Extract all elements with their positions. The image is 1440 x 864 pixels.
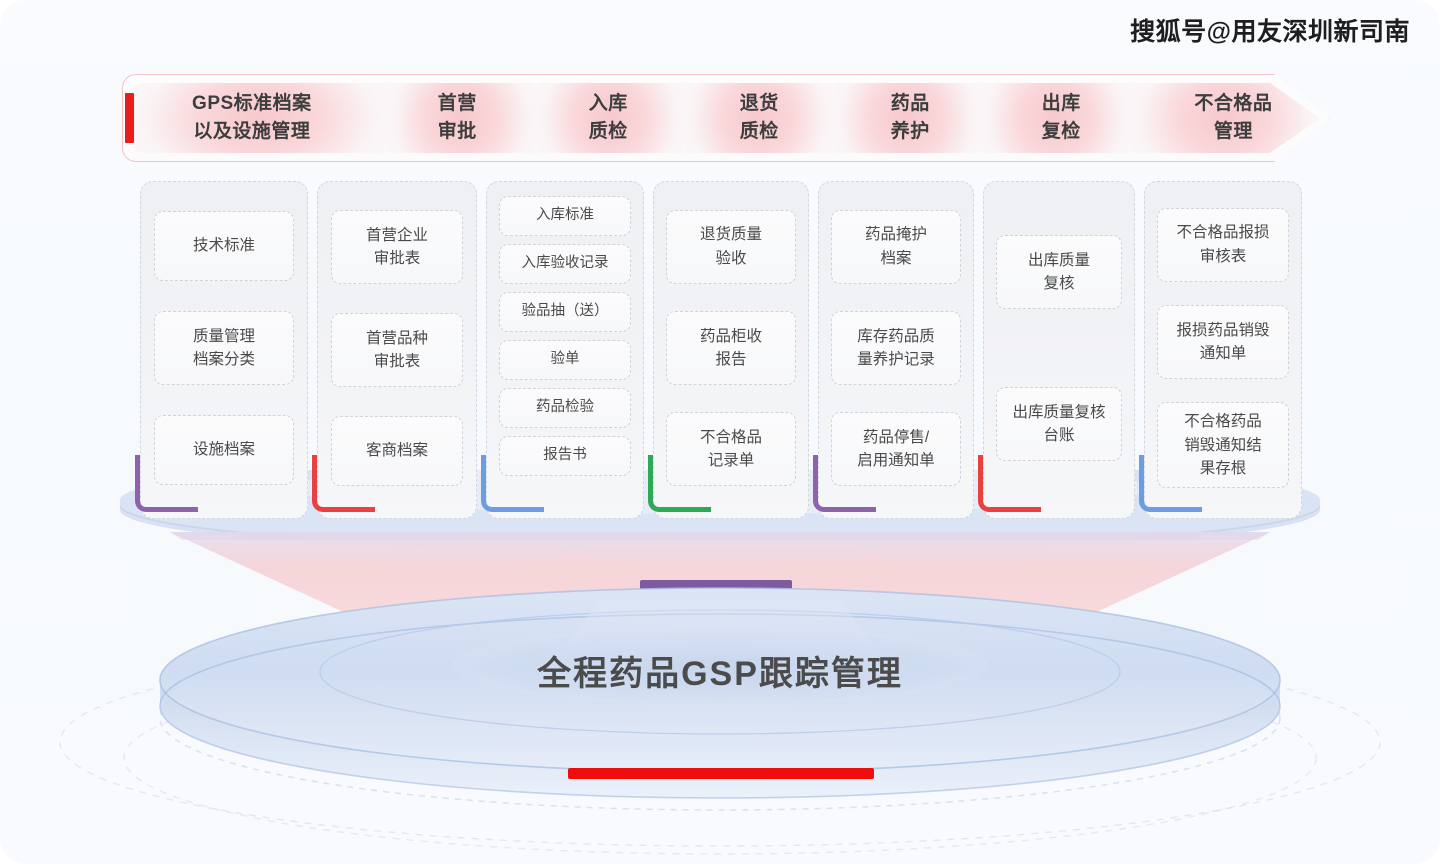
banner-step-4[interactable]: 退货质检 [684, 74, 835, 162]
banner-step-line1: 退货 [740, 90, 779, 118]
banner-step-labels: GPS标准档案以及设施管理首营审批入库质检退货质检药品养护出库复检不合格品管理 [122, 74, 1330, 162]
banner-step-6[interactable]: 出库复检 [986, 74, 1137, 162]
doc-card[interactable]: 入库验收记录 [499, 244, 630, 284]
banner-step-1[interactable]: GPS标准档案以及设施管理 [122, 74, 382, 162]
banner-step-7[interactable]: 不合格品管理 [1137, 74, 1330, 162]
banner-step-3[interactable]: 入库质检 [533, 74, 684, 162]
doc-card[interactable]: 不合格品记录单 [666, 412, 795, 486]
banner-step-line1: GPS标准档案 [192, 90, 312, 118]
doc-card[interactable]: 入库标准 [499, 196, 630, 236]
doc-card[interactable]: 药品检验 [499, 388, 630, 428]
doc-card[interactable]: 技术标准 [154, 211, 293, 281]
category-column-5: 药品掩护档案库存药品质量养护记录药品停售/启用通知单 [818, 181, 974, 519]
doc-card[interactable]: 出库质量复核台账 [996, 387, 1122, 461]
banner-step-line1: 不合格品 [1194, 90, 1272, 118]
base-accent-bar [568, 768, 874, 779]
banner-step-line1: 药品 [891, 90, 930, 118]
doc-card[interactable]: 质量管理档案分类 [154, 311, 293, 385]
watermark-text: 搜狐号@用友深圳新司南 [1130, 12, 1410, 48]
banner-step-line1: 首营 [438, 90, 477, 118]
category-columns: 技术标准质量管理档案分类设施档案首营企业审批表首营品种审批表客商档案入库标准入库… [140, 181, 1308, 519]
banner-step-line2: 以及设施管理 [193, 118, 310, 146]
doc-card[interactable]: 客商档案 [331, 416, 464, 486]
category-column-7: 不合格品报损审核表报损药品销毁通知单不合格药品销毁通知结果存根 [1144, 181, 1302, 519]
doc-card[interactable]: 验品抽（送） [499, 292, 630, 332]
stage-title: 全程药品GSP跟踪管理 [0, 646, 1440, 695]
doc-card[interactable]: 药品柜收报告 [666, 311, 795, 385]
category-column-6: 出库质量复核出库质量复核台账 [983, 181, 1135, 519]
doc-card[interactable]: 库存药品质量养护记录 [831, 311, 960, 385]
stage-graphic: 全程药品GSP跟踪管理 [0, 470, 1440, 864]
base-platform [60, 588, 1380, 854]
banner-step-5[interactable]: 药品养护 [835, 74, 986, 162]
banner-step-line2: 质检 [740, 118, 779, 146]
category-column-2: 首营企业审批表首营品种审批表客商档案 [317, 181, 477, 519]
category-column-3: 入库标准入库验收记录验品抽（送）验单药品检验报告书 [486, 181, 644, 519]
banner-step-2[interactable]: 首营审批 [382, 74, 533, 162]
banner-step-line2: 质检 [589, 118, 628, 146]
doc-card[interactable]: 报损药品销毁通知单 [1157, 305, 1288, 379]
banner-step-line2: 养护 [891, 118, 930, 146]
doc-card[interactable]: 不合格品报损审核表 [1157, 208, 1288, 282]
doc-card[interactable]: 药品掩护档案 [831, 210, 960, 284]
process-banner: GPS标准档案以及设施管理首营审批入库质检退货质检药品养护出库复检不合格品管理 [122, 74, 1330, 162]
doc-card[interactable]: 首营品种审批表 [331, 313, 464, 387]
banner-step-line2: 管理 [1214, 118, 1253, 146]
doc-card[interactable]: 首营企业审批表 [331, 210, 464, 284]
doc-card[interactable]: 药品停售/启用通知单 [831, 412, 960, 486]
doc-card[interactable]: 退货质量验收 [666, 210, 795, 284]
banner-step-line1: 入库 [589, 90, 628, 118]
doc-card[interactable]: 设施档案 [154, 415, 293, 485]
doc-card[interactable]: 验单 [499, 340, 630, 380]
column-accent-bracket [978, 455, 1041, 512]
banner-step-line2: 复检 [1042, 118, 1081, 146]
doc-card[interactable]: 报告书 [499, 436, 630, 476]
category-column-4: 退货质量验收药品柜收报告不合格品记录单 [653, 181, 809, 519]
banner-step-line1: 出库 [1042, 90, 1081, 118]
doc-card[interactable]: 出库质量复核 [996, 235, 1122, 309]
infographic-canvas: 搜狐号@用友深圳新司南 GPS标准档案以及设施管理首营审批入库质检退货质检药品养… [0, 0, 1440, 864]
category-column-1: 技术标准质量管理档案分类设施档案 [140, 181, 308, 519]
banner-step-line2: 审批 [438, 118, 477, 146]
doc-card[interactable]: 不合格药品销毁通知结果存根 [1157, 402, 1288, 488]
